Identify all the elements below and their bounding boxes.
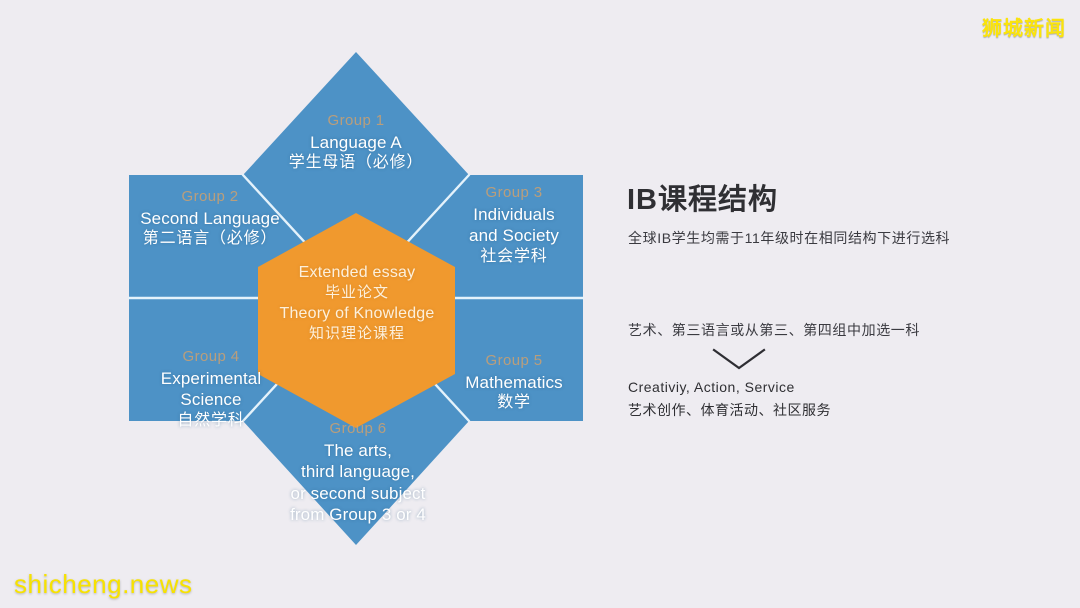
info-panel: IB课程结构 全球IB学生均需于11年级时在相同结构下进行选科 艺术、第三语言或… (625, 0, 1080, 608)
cas-chinese: 艺术创作、体育活动、社区服务 (628, 399, 831, 422)
elective-note: 艺术、第三语言或从第三、第四组中加选一科 (628, 320, 920, 340)
hexagon-svg (0, 0, 620, 608)
ib-hexagon-diagram: Group 1 Language A 学生母语（必修） Group 2 Seco… (0, 0, 620, 608)
page-title: IB课程结构 (627, 176, 778, 218)
watermark-bottom-left: shicheng.news (14, 569, 193, 600)
chevron-down-icon (708, 345, 770, 373)
cas-block: Creativiy, Action, Service 艺术创作、体育活动、社区服… (628, 376, 831, 422)
watermark-top-right: 狮城新闻 (982, 12, 1066, 41)
page-subtitle: 全球IB学生均需于11年级时在相同结构下进行选科 (628, 228, 950, 248)
slide-canvas: Group 1 Language A 学生母语（必修） Group 2 Seco… (0, 0, 1080, 608)
cas-english: Creativiy, Action, Service (628, 376, 831, 399)
